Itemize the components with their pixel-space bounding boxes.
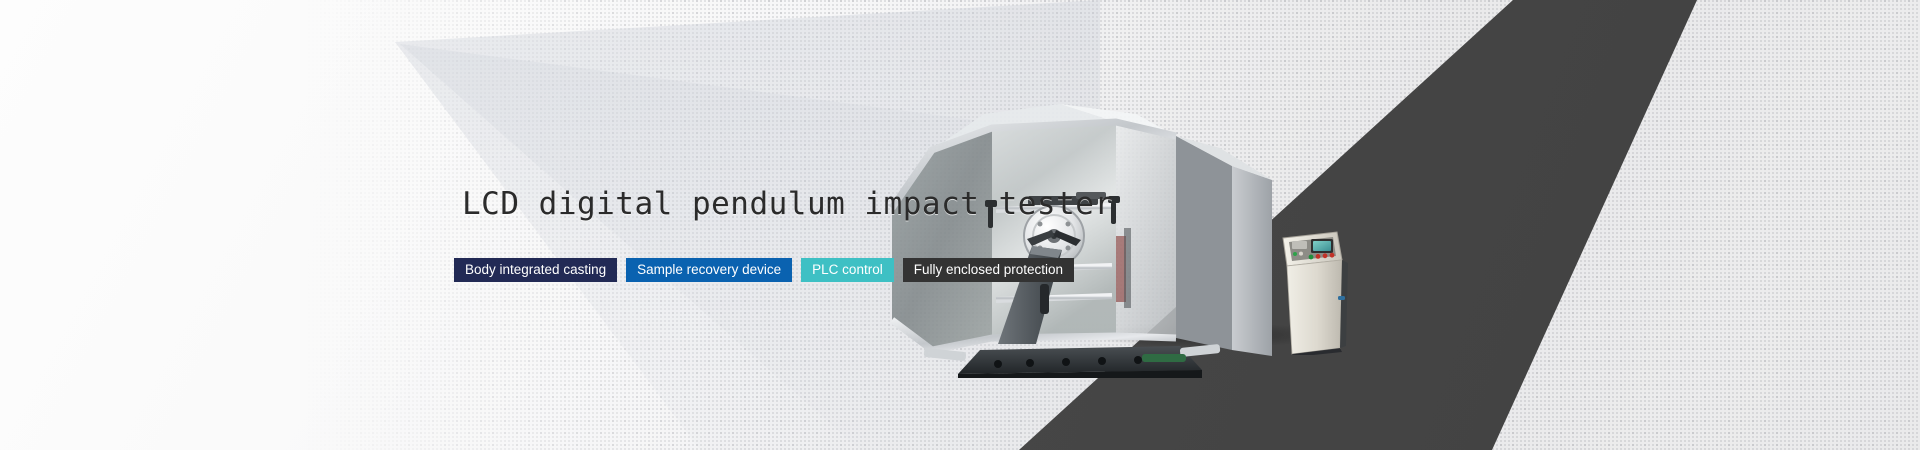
console-lcd-screen bbox=[1313, 241, 1331, 251]
enclosure-left-glass bbox=[892, 128, 992, 350]
feature-badge-list: Body integrated casting Sample recovery … bbox=[454, 258, 1083, 282]
feature-badge[interactable]: Fully enclosed protection bbox=[903, 258, 1074, 282]
console-indicator-lamp-green bbox=[1293, 252, 1297, 256]
control-console bbox=[1280, 230, 1350, 355]
page-title: LCD digital pendulum impact tester bbox=[462, 186, 1114, 222]
console-side-latch bbox=[1338, 296, 1345, 300]
feature-badge[interactable]: Body integrated casting bbox=[454, 258, 617, 282]
feature-badge[interactable]: Sample recovery device bbox=[626, 258, 792, 282]
console-pedestal bbox=[1287, 260, 1342, 354]
machine-right-cabinet bbox=[1176, 136, 1272, 356]
console-printer-slot bbox=[1292, 241, 1307, 249]
machine-base bbox=[924, 344, 1221, 378]
console-indicator-lamp-white bbox=[1299, 252, 1303, 256]
product-banner: LCD digital pendulum impact tester Body … bbox=[0, 0, 1920, 450]
feature-badge[interactable]: PLC control bbox=[801, 258, 894, 282]
